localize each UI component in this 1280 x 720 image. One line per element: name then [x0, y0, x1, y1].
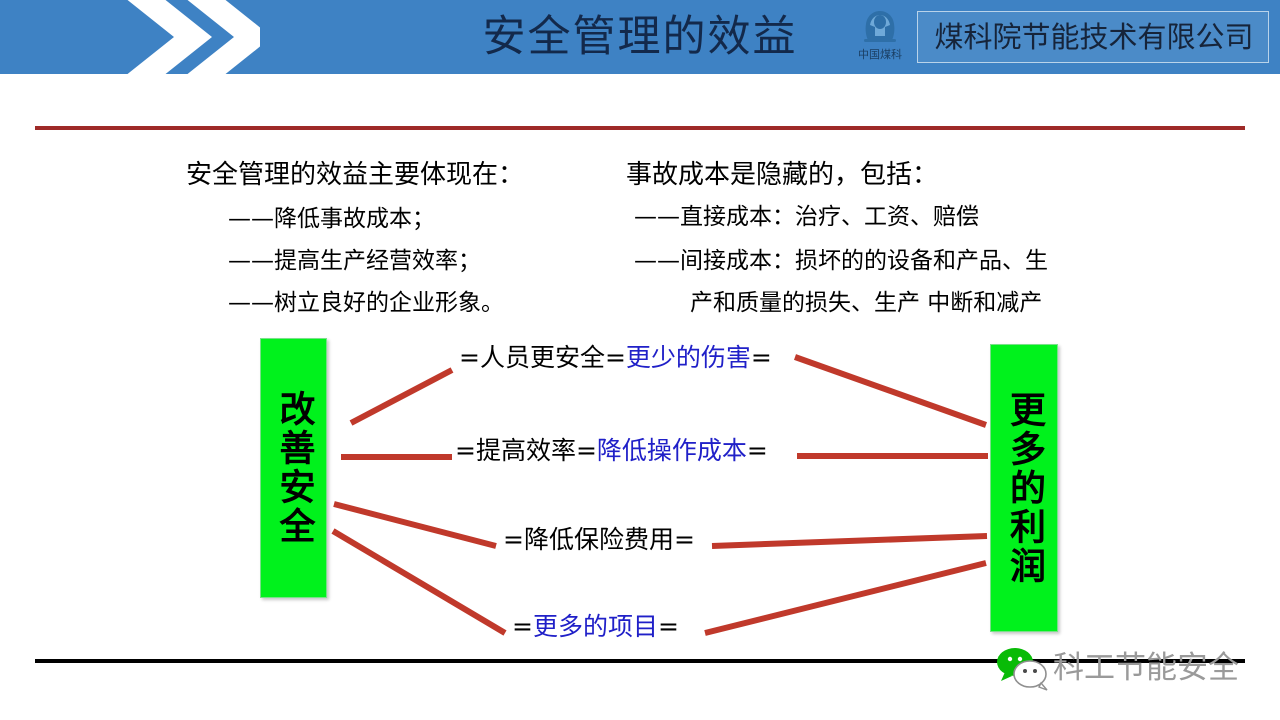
middle-label-2: =提高效率=降低操作成本=	[455, 438, 768, 463]
wechat-icon	[995, 647, 1051, 691]
middle-label-3-prefix: =降低保险费用=	[503, 525, 695, 554]
middle-label-4-suffix: =	[658, 612, 679, 641]
improve-safety-box[interactable]: 改善安全	[260, 338, 327, 598]
middle-label-4: =更多的项目=	[512, 614, 679, 639]
watermark-label: 科工节能安全	[1053, 651, 1239, 685]
connector-line-4a	[333, 531, 505, 633]
connector-line-4b	[705, 563, 986, 633]
middle-label-3: =降低保险费用=	[503, 527, 695, 552]
connector-line-3b	[712, 536, 987, 546]
more-profit-label: 更多的利润	[1006, 391, 1042, 586]
middle-label-1: =人员更安全=更少的伤害=	[459, 345, 772, 370]
middle-label-2-suffix: =	[747, 436, 768, 465]
middle-label-2-highlight: 降低操作成本	[597, 436, 747, 465]
connector-line-1b	[795, 357, 986, 425]
slide-canvas: 安全管理的效益 中国煤科 煤科院节能技术有限公司 安全管理的效益主要体现在： —…	[0, 0, 1280, 720]
improve-safety-label: 改善安全	[276, 390, 312, 546]
middle-label-1-prefix: =人员更安全=	[459, 343, 626, 372]
more-profit-box[interactable]: 更多的利润	[990, 344, 1058, 632]
connector-line-1a	[351, 370, 452, 423]
middle-label-2-prefix: =提高效率=	[455, 436, 597, 465]
middle-label-4-prefix: =	[512, 612, 533, 641]
connector-line-3a	[334, 504, 496, 546]
middle-label-1-suffix: =	[751, 343, 772, 372]
middle-label-4-highlight: 更多的项目	[533, 612, 658, 641]
middle-label-1-highlight: 更少的伤害	[626, 343, 751, 372]
wechat-watermark: 科工节能安全	[995, 645, 1280, 705]
